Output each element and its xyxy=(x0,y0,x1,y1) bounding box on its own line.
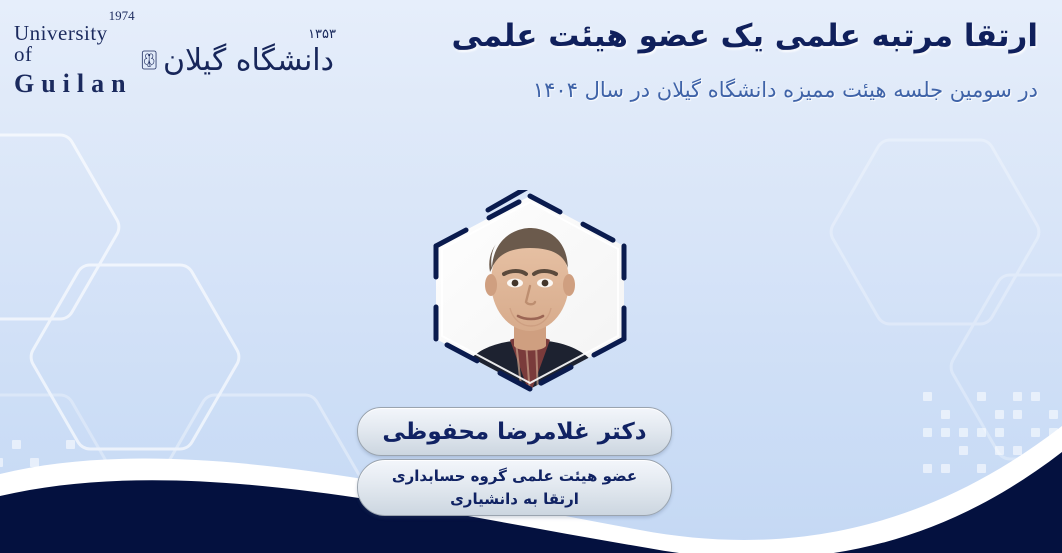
decorative-dot xyxy=(941,410,950,419)
decorative-dot xyxy=(941,428,950,437)
decorative-dot xyxy=(30,494,39,503)
decorative-dot xyxy=(12,476,21,485)
logo-year-1353: ۱۳۵۳ xyxy=(308,27,336,42)
decorative-dot xyxy=(12,440,21,449)
logo-line-guilan: Guilan xyxy=(14,71,133,97)
decorative-dot xyxy=(30,458,39,467)
decorative-dot xyxy=(995,446,1004,455)
faculty-role-badge: عضو هیئت علمی گروه حسابداری ارتقا به دان… xyxy=(357,459,672,516)
university-logo: University of 1974 Guilan ۱۳۵۳ دانشگاه گ… xyxy=(14,14,334,106)
dot-grid-left xyxy=(0,440,114,550)
decorative-dot xyxy=(977,428,986,437)
decorative-dot xyxy=(48,476,57,485)
decorative-dot xyxy=(1013,392,1022,401)
decorative-dot xyxy=(923,428,932,437)
dot-grid-right xyxy=(905,392,1062,482)
decorative-dot xyxy=(959,428,968,437)
logo-english-text: University of 1974 Guilan xyxy=(14,23,133,97)
announcement-poster: University of 1974 Guilan ۱۳۵۳ دانشگاه گ… xyxy=(0,0,1062,553)
decorative-dot xyxy=(1013,446,1022,455)
decorative-dot xyxy=(1031,428,1040,437)
decorative-dot xyxy=(0,458,3,467)
guilan-emblem-icon xyxy=(141,21,157,99)
faculty-promotion-label: ارتقا به دانشیاری xyxy=(450,488,579,511)
faculty-member-portrait xyxy=(418,190,642,395)
decorative-dot xyxy=(923,392,932,401)
faculty-name-badge: دکتر غلامرضا محفوظی xyxy=(357,407,672,456)
faculty-name-label: دکتر غلامرضا محفوظی xyxy=(382,419,646,445)
decorative-dot xyxy=(995,428,1004,437)
decorative-dot xyxy=(66,440,75,449)
logo-year-1974: 1974 xyxy=(109,9,135,22)
page-title: ارتقا مرتبه علمی یک عضو هیئت علمی xyxy=(398,18,1038,54)
decorative-dot xyxy=(12,512,21,521)
decorative-dot xyxy=(977,392,986,401)
decorative-dot xyxy=(1049,428,1058,437)
decorative-dot xyxy=(1031,392,1040,401)
decorative-dot xyxy=(1049,410,1058,419)
decorative-dot xyxy=(1013,410,1022,419)
logo-university-of-label: University of xyxy=(14,21,108,66)
logo-persian-name: دانشگاه گیلان xyxy=(163,43,334,78)
decorative-dot xyxy=(941,464,950,473)
portrait-photo xyxy=(418,190,642,395)
decorative-dot xyxy=(0,494,3,503)
page-subtitle: در سومین جلسه هیئت ممیزه دانشگاه گیلان د… xyxy=(398,78,1038,102)
decorative-dot xyxy=(959,446,968,455)
logo-persian-text: ۱۳۵۳ دانشگاه گیلان xyxy=(163,43,334,78)
faculty-department-label: عضو هیئت علمی گروه حسابداری xyxy=(392,465,637,488)
decorative-dot xyxy=(995,410,1004,419)
logo-line-university-of: University of 1974 xyxy=(14,23,133,65)
decorative-dot xyxy=(977,464,986,473)
decorative-dot xyxy=(923,464,932,473)
